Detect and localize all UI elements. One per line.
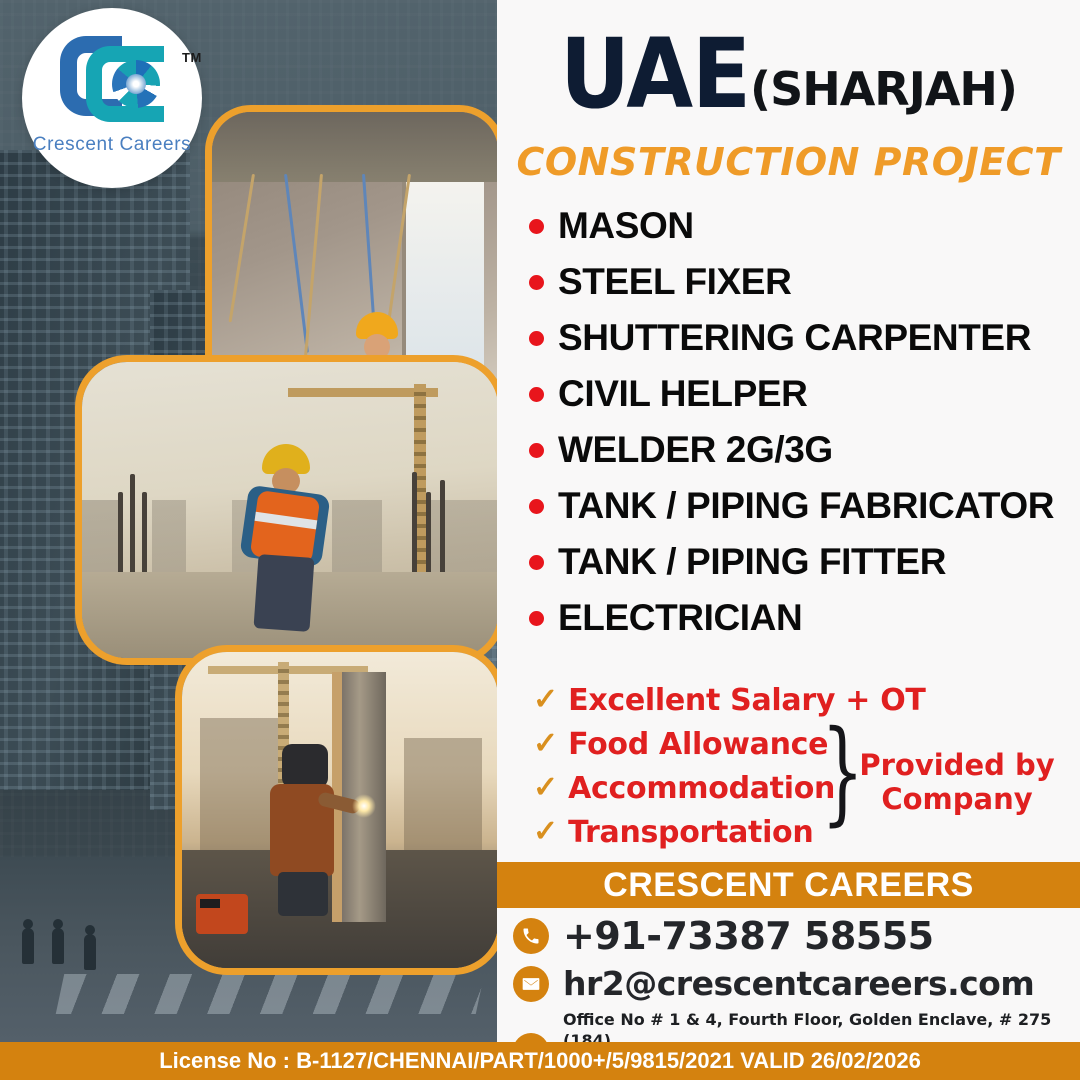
- benefit-label: Transportation: [568, 815, 813, 850]
- job-title: TANK / PIPING FABRICATOR: [558, 485, 1054, 527]
- job-list-item: STEEL FIXER: [529, 254, 1080, 310]
- pedestrian-silhouette: [84, 934, 96, 970]
- job-list-item: SHUTTERING CARPENTER: [529, 310, 1080, 366]
- license-text: License No : B-1127/CHENNAI/PART/1000+/5…: [0, 1042, 1080, 1080]
- photo-steel-fixer-site: [75, 355, 497, 665]
- bullet-icon: [529, 331, 544, 346]
- right-content-panel: UAE(SHARJAH) CONSTRUCTION PROJECT MASON …: [497, 0, 1080, 1042]
- job-list-item: CIVIL HELPER: [529, 366, 1080, 422]
- check-icon: ✓: [533, 817, 558, 847]
- license-bar: License No : B-1127/CHENNAI/PART/1000+/5…: [0, 1042, 1080, 1080]
- job-list-item: TANK / PIPING FITTER: [529, 534, 1080, 590]
- benefit-item: ✓ Transportation: [533, 810, 933, 854]
- benefit-label: Food Allowance: [568, 727, 828, 762]
- job-title: CIVIL HELPER: [558, 373, 807, 415]
- company-name: CRESCENT CAREERS: [497, 862, 1080, 908]
- poster-title: UAE(SHARJAH): [497, 18, 1080, 130]
- photo-welder-sunset: [175, 645, 497, 975]
- bullet-icon: [529, 555, 544, 570]
- company-name-bar: CRESCENT CAREERS: [497, 862, 1080, 908]
- job-list-item: MASON: [529, 198, 1080, 254]
- phone-icon: [513, 918, 549, 954]
- job-title: STEEL FIXER: [558, 261, 791, 303]
- bullet-icon: [529, 611, 544, 626]
- logo-wordmark: Crescent Careers: [22, 134, 202, 156]
- job-title: SHUTTERING CARPENTER: [558, 317, 1031, 359]
- job-title: ELECTRICIAN: [558, 597, 802, 639]
- check-icon: ✓: [533, 729, 558, 759]
- job-title: MASON: [558, 205, 694, 247]
- job-list-item: TANK / PIPING FABRICATOR: [529, 478, 1080, 534]
- pedestrian-silhouette: [52, 928, 64, 964]
- benefit-item: ✓ Excellent Salary + OT: [533, 678, 933, 722]
- bullet-icon: [529, 499, 544, 514]
- trademark-symbol: TM: [182, 50, 202, 65]
- logo-mark-icon: TM: [56, 32, 172, 126]
- contact-phone-row[interactable]: +91-73387 58555: [513, 914, 1080, 958]
- job-title: WELDER 2G/3G: [558, 429, 833, 471]
- company-logo: TM Crescent Careers: [22, 8, 202, 188]
- title-city: (SHARJAH): [750, 62, 1017, 116]
- check-icon: ✓: [533, 773, 558, 803]
- job-title: TANK / PIPING FITTER: [558, 541, 946, 583]
- bullet-icon: [529, 443, 544, 458]
- job-list: MASON STEEL FIXER SHUTTERING CARPENTER C…: [529, 198, 1080, 646]
- envelope-icon: [513, 966, 549, 1002]
- job-list-item: ELECTRICIAN: [529, 590, 1080, 646]
- provided-by-company-note: Provided by Company: [852, 748, 1062, 816]
- phone-number: +91-73387 58555: [563, 914, 934, 958]
- bullet-icon: [529, 275, 544, 290]
- check-icon: ✓: [533, 685, 558, 715]
- left-visual-panel: TM Crescent Careers: [0, 0, 497, 1042]
- benefit-label: Accommodation: [568, 771, 835, 806]
- bullet-icon: [529, 219, 544, 234]
- benefit-label: Excellent Salary + OT: [568, 683, 925, 718]
- pedestrian-silhouette: [22, 928, 34, 964]
- job-list-item: WELDER 2G/3G: [529, 422, 1080, 478]
- swirl-icon: [112, 60, 160, 108]
- title-country: UAE: [560, 18, 750, 130]
- crosswalk-markings: [56, 974, 485, 1014]
- poster-subtitle: CONSTRUCTION PROJECT: [497, 140, 1080, 184]
- recruitment-poster: TM Crescent Careers UAE(SHARJAH) CONSTRU…: [0, 0, 1080, 1080]
- contact-email-row[interactable]: hr2@crescentcareers.com: [513, 964, 1080, 1003]
- bullet-icon: [529, 387, 544, 402]
- email-address: hr2@crescentcareers.com: [563, 964, 1034, 1003]
